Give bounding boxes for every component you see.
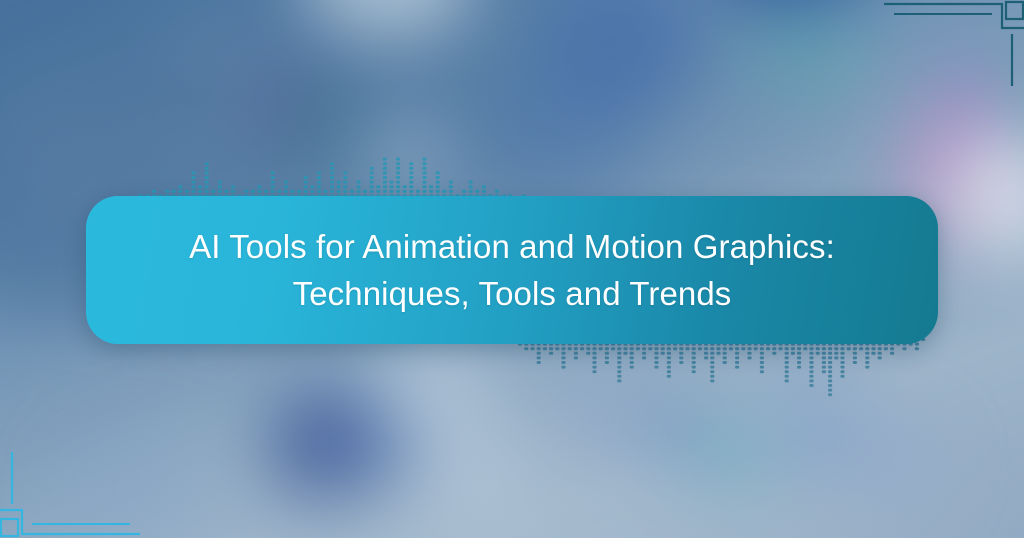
page-title: AI Tools for Animation and Motion Graphi…: [182, 223, 842, 317]
featured-image-canvas: AI Tools for Animation and Motion Graphi…: [0, 0, 1024, 538]
page-title-line-1: AI Tools for Animation and Motion: [189, 228, 683, 265]
title-banner: AI Tools for Animation and Motion Graphi…: [86, 196, 938, 344]
